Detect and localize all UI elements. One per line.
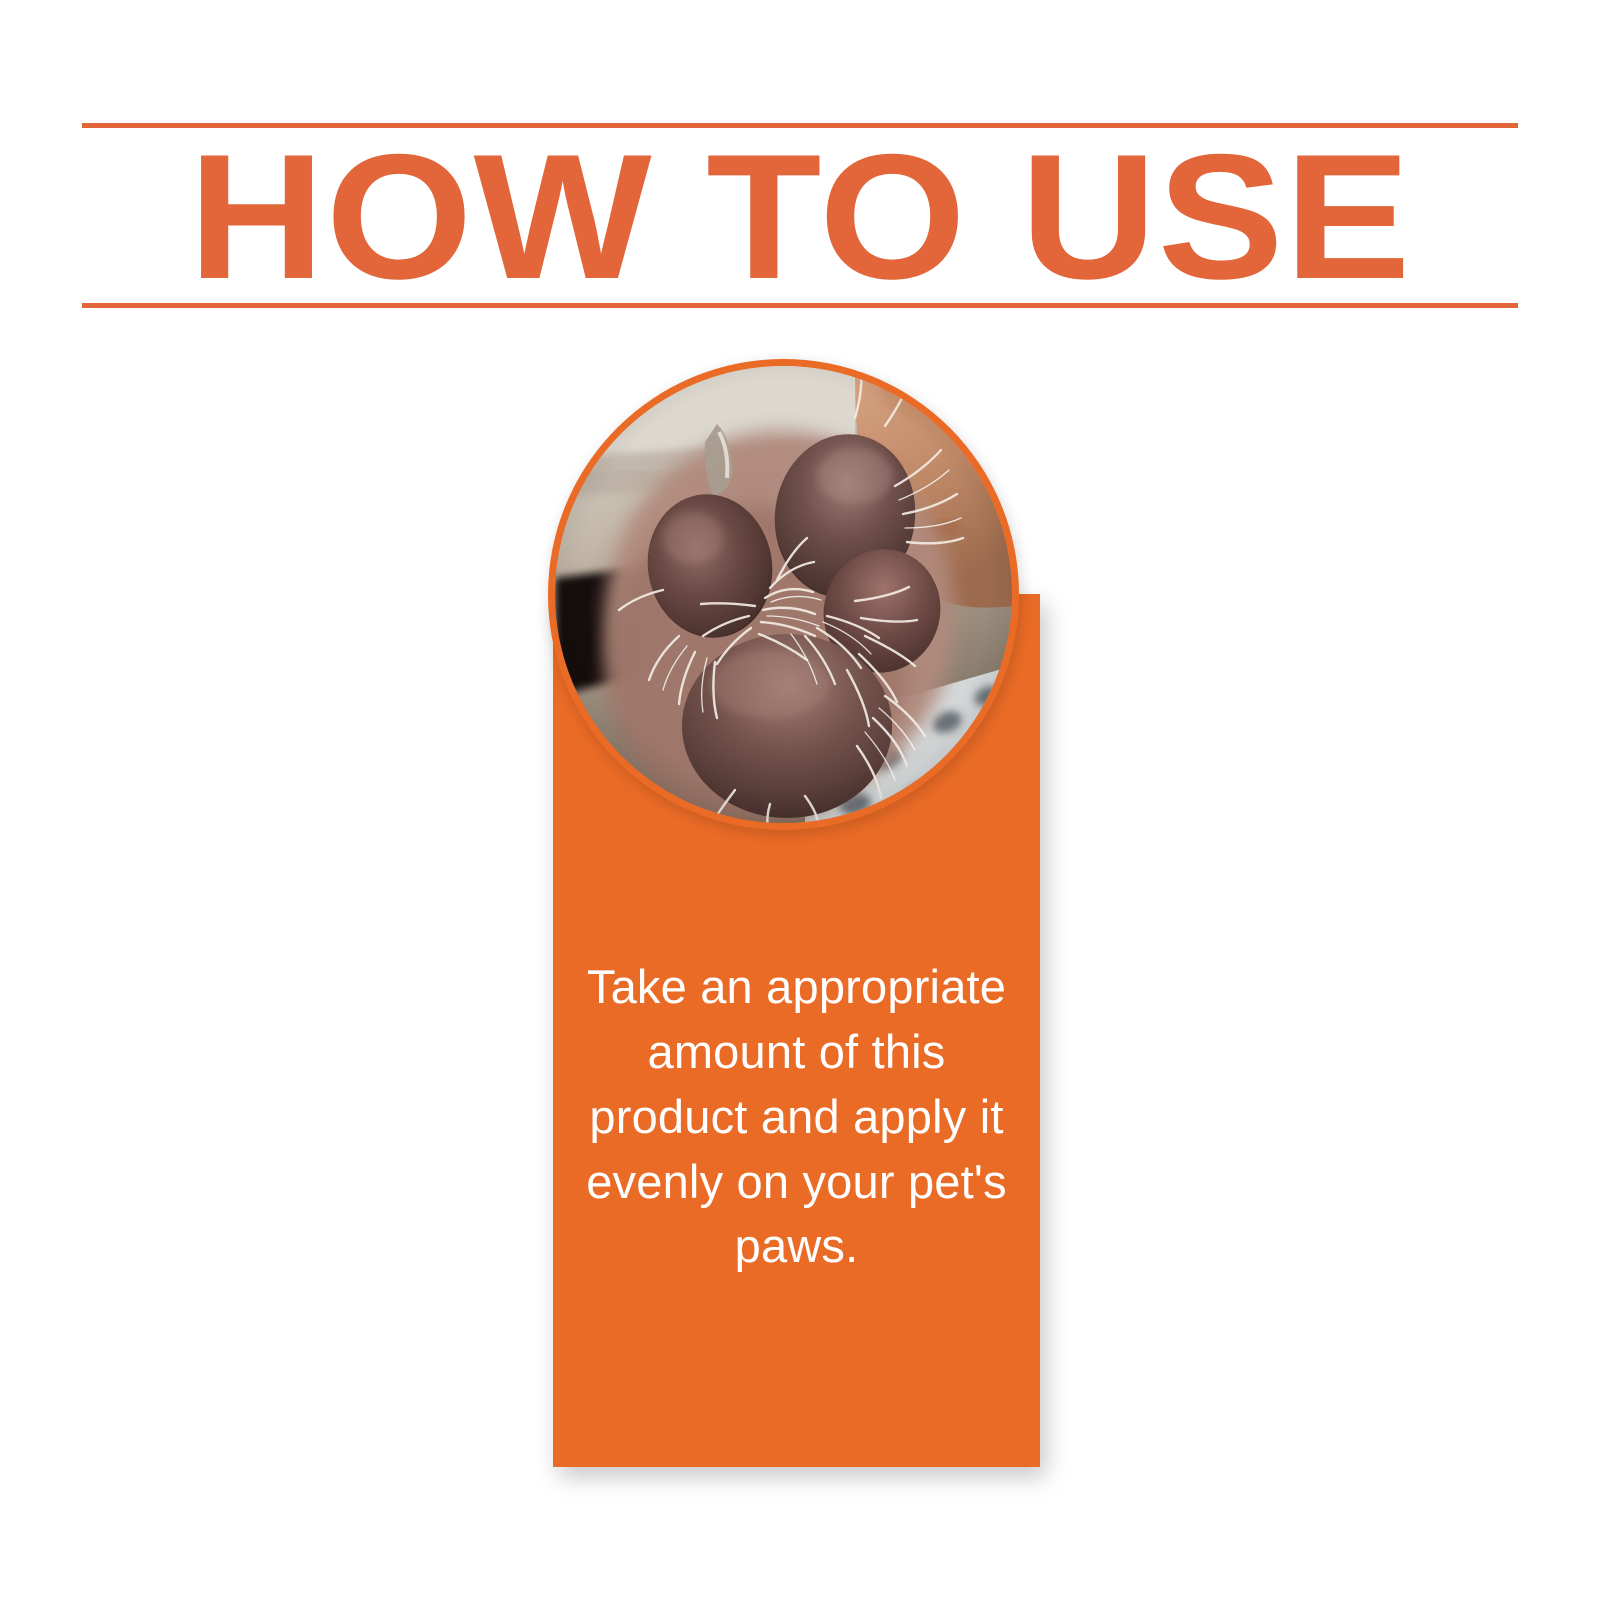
how-to-use-panel: HOW TO USE (0, 0, 1600, 1600)
dog-paw-photo-icon (555, 366, 1012, 823)
header: HOW TO USE (82, 123, 1518, 308)
photo-circle-frame (548, 359, 1019, 830)
page-title: HOW TO USE (39, 133, 1561, 303)
instruction-card (553, 359, 1040, 1471)
paw-photo (555, 366, 1012, 823)
header-rule-bottom (82, 303, 1518, 308)
instruction-text: Take an appropriate amount of this produ… (553, 955, 1040, 1279)
